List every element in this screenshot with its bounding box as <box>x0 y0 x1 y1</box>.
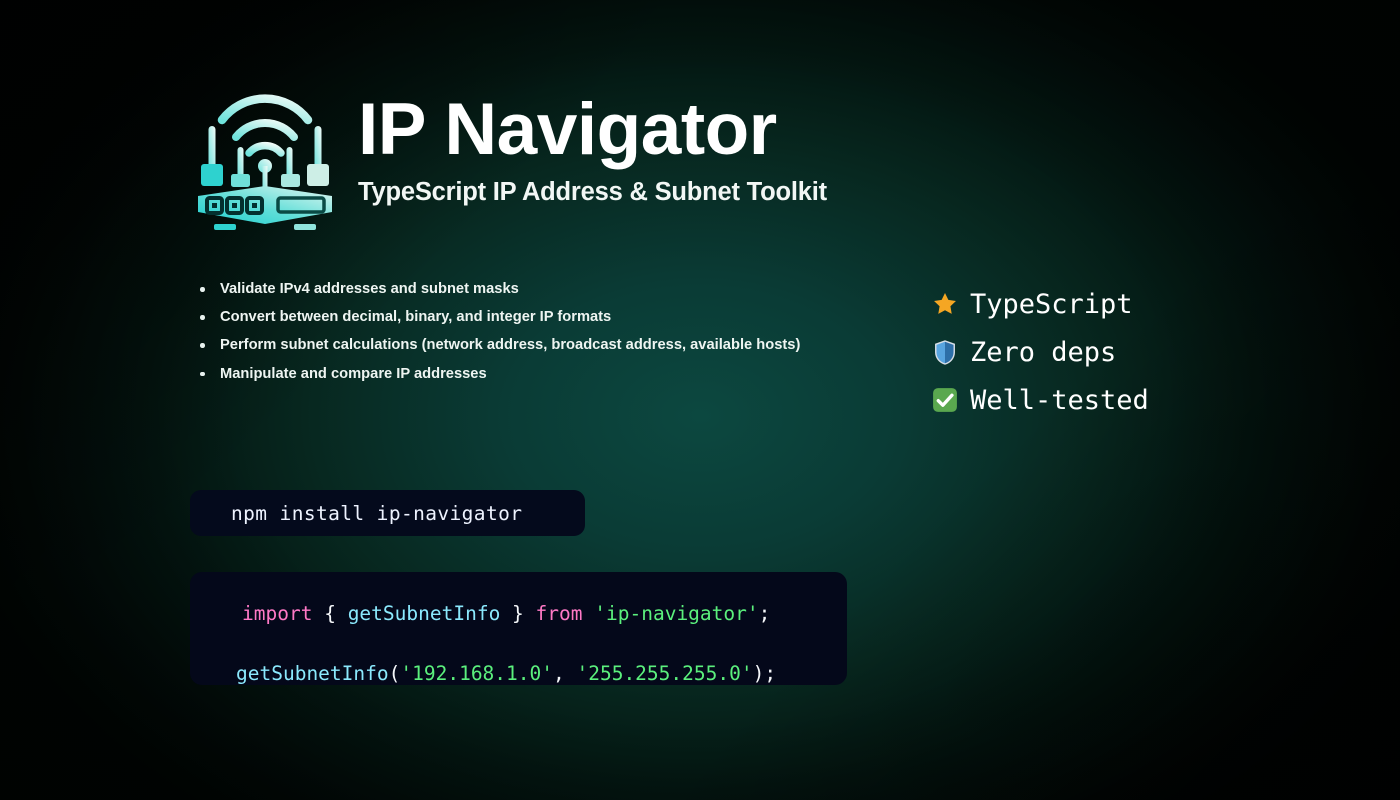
badge-list: TypeScript Zero deps Well-tested <box>932 280 1149 424</box>
token-paren-close: ) <box>753 662 765 685</box>
bullet-dot-icon <box>200 372 205 377</box>
app-title: IP Navigator <box>358 95 827 165</box>
token-brace-open: { <box>312 602 347 625</box>
badge-typescript: TypeScript <box>932 280 1149 328</box>
bullet-dot-icon <box>200 343 205 348</box>
feature-text: Validate IPv4 addresses and subnet masks <box>220 281 519 297</box>
list-item: Validate IPv4 addresses and subnet masks <box>198 282 898 297</box>
feature-text: Manipulate and compare IP addresses <box>220 366 487 382</box>
badge-label: Zero deps <box>970 337 1116 368</box>
header: IP Navigator TypeScript IP Address & Sub… <box>186 74 827 232</box>
token-arg-ip: '192.168.1.0' <box>400 662 553 685</box>
badge-zero-deps: Zero deps <box>932 328 1149 376</box>
code-line-2: getSubnetInfo('192.168.1.0', '255.255.25… <box>190 664 847 684</box>
token-space <box>583 602 595 625</box>
feature-text: Convert between decimal, binary, and int… <box>220 309 611 325</box>
shield-icon <box>932 339 968 366</box>
badge-label: Well-tested <box>970 385 1149 416</box>
install-command-box[interactable]: npm install ip-navigator <box>190 490 585 536</box>
token-comma: , <box>553 662 576 685</box>
token-paren-open: ( <box>389 662 401 685</box>
list-item: Perform subnet calculations (network add… <box>198 338 898 353</box>
badge-well-tested: Well-tested <box>932 376 1149 424</box>
token-module-string: 'ip-navigator' <box>594 602 758 625</box>
token-keyword-from: from <box>536 602 583 625</box>
code-sample-block[interactable]: import { getSubnetInfo } from 'ip-naviga… <box>190 572 847 685</box>
list-item: Convert between decimal, binary, and int… <box>198 310 898 325</box>
token-brace-close: } <box>500 602 535 625</box>
promo-banner: IP Navigator TypeScript IP Address & Sub… <box>0 0 1400 800</box>
wifi-router-icon <box>186 74 344 232</box>
app-logo <box>186 74 344 232</box>
check-mark-icon <box>932 387 968 413</box>
app-subtitle: TypeScript IP Address & Subnet Toolkit <box>358 178 827 207</box>
bullet-dot-icon <box>200 287 205 292</box>
badge-label: TypeScript <box>970 289 1133 320</box>
code-line-1: import { getSubnetInfo } from 'ip-naviga… <box>190 604 847 624</box>
list-item: Manipulate and compare IP addresses <box>198 367 898 382</box>
token-function-call: getSubnetInfo <box>236 662 389 685</box>
bullet-dot-icon <box>200 315 205 320</box>
token-semicolon: ; <box>764 662 776 685</box>
token-keyword-import: import <box>242 602 312 625</box>
star-icon <box>932 291 968 317</box>
install-command-text: npm install ip-navigator <box>231 502 522 525</box>
token-function-name: getSubnetInfo <box>348 602 501 625</box>
feature-text: Perform subnet calculations (network add… <box>220 337 800 353</box>
token-semicolon: ; <box>759 602 771 625</box>
token-arg-mask: '255.255.255.0' <box>576 662 752 685</box>
feature-list: Validate IPv4 addresses and subnet masks… <box>198 282 898 395</box>
title-block: IP Navigator TypeScript IP Address & Sub… <box>358 95 827 210</box>
